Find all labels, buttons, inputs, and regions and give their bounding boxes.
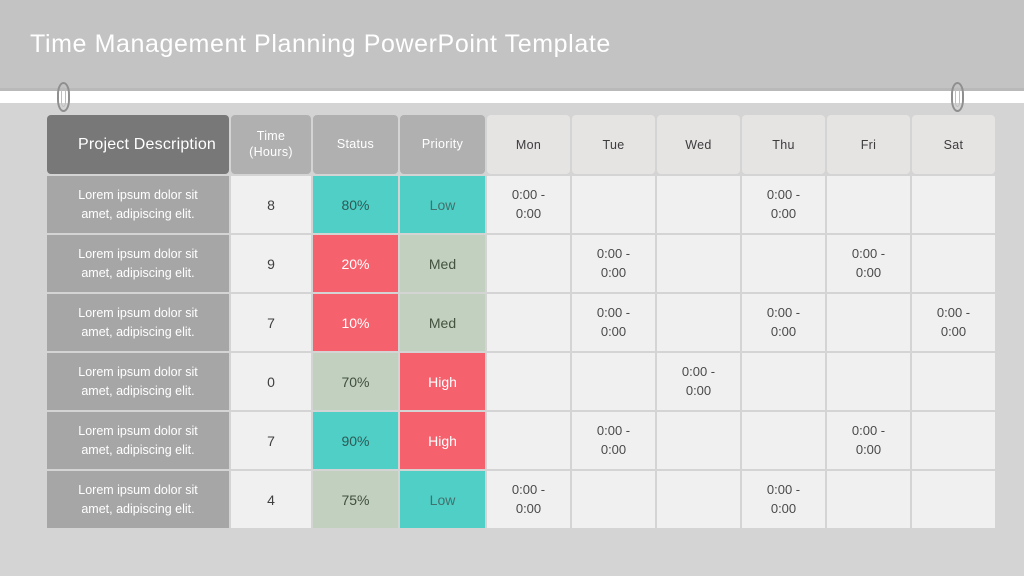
time-range-end: 0:00	[742, 500, 825, 519]
time-range-end: 0:00	[487, 500, 570, 519]
cell-day-tue[interactable]: 0:00 -0:00	[572, 294, 655, 351]
column-header-day-fri: Fri	[827, 115, 910, 174]
cell-status[interactable]: 75%	[313, 471, 398, 528]
cell-day-thu[interactable]	[742, 412, 825, 469]
project-schedule-table: Project Description Time (Hours) Status …	[45, 113, 997, 530]
column-header-time: Time (Hours)	[231, 115, 311, 174]
column-header-day-tue: Tue	[572, 115, 655, 174]
cell-day-thu[interactable]: 0:00 -0:00	[742, 471, 825, 528]
cell-day-thu[interactable]	[742, 235, 825, 292]
page-title: Time Management Planning PowerPoint Temp…	[30, 30, 611, 59]
time-range-start: 0:00 -	[572, 245, 655, 264]
binder-clip-icon-right	[951, 82, 964, 112]
time-range-start: 0:00 -	[912, 304, 995, 323]
time-range-end: 0:00	[487, 205, 570, 224]
table-body: Lorem ipsum dolor sit amet, adipiscing e…	[47, 176, 995, 528]
table-row: Lorem ipsum dolor sit amet, adipiscing e…	[47, 235, 995, 292]
cell-time-hours[interactable]: 9	[231, 235, 311, 292]
cell-day-sat[interactable]	[912, 471, 995, 528]
table-row: Lorem ipsum dolor sit amet, adipiscing e…	[47, 294, 995, 351]
time-range-start: 0:00 -	[742, 304, 825, 323]
cell-day-sat[interactable]: 0:00 -0:00	[912, 294, 995, 351]
cell-day-mon[interactable]: 0:00 -0:00	[487, 176, 570, 233]
cell-day-thu[interactable]	[742, 353, 825, 410]
time-range-start: 0:00 -	[487, 481, 570, 500]
cell-time-hours[interactable]: 0	[231, 353, 311, 410]
time-range-start: 0:00 -	[827, 422, 910, 441]
cell-day-mon[interactable]	[487, 294, 570, 351]
cell-day-mon[interactable]	[487, 235, 570, 292]
time-range-end: 0:00	[572, 323, 655, 342]
time-range-start: 0:00 -	[487, 186, 570, 205]
cell-day-wed[interactable]: 0:00 -0:00	[657, 353, 740, 410]
cell-status[interactable]: 10%	[313, 294, 398, 351]
cell-priority[interactable]: Low	[400, 471, 485, 528]
column-header-description: Project Description	[47, 115, 229, 174]
cell-day-wed[interactable]	[657, 412, 740, 469]
cell-priority[interactable]: Med	[400, 235, 485, 292]
time-range-end: 0:00	[912, 323, 995, 342]
cell-day-fri[interactable]: 0:00 -0:00	[827, 412, 910, 469]
column-header-time-line2: (Hours)	[249, 145, 293, 159]
time-range-start: 0:00 -	[657, 363, 740, 382]
cell-day-thu[interactable]: 0:00 -0:00	[742, 294, 825, 351]
time-range-end: 0:00	[657, 382, 740, 401]
cell-time-hours[interactable]: 8	[231, 176, 311, 233]
table-row: Lorem ipsum dolor sit amet, adipiscing e…	[47, 353, 995, 410]
time-range-end: 0:00	[742, 323, 825, 342]
cell-day-sat[interactable]	[912, 235, 995, 292]
cell-day-fri[interactable]	[827, 294, 910, 351]
time-range-start: 0:00 -	[572, 422, 655, 441]
time-range-start: 0:00 -	[827, 245, 910, 264]
cell-time-hours[interactable]: 7	[231, 412, 311, 469]
cell-project-description[interactable]: Lorem ipsum dolor sit amet, adipiscing e…	[47, 353, 229, 410]
cell-project-description[interactable]: Lorem ipsum dolor sit amet, adipiscing e…	[47, 294, 229, 351]
column-header-time-line1: Time	[257, 129, 286, 143]
header-white-strip	[0, 91, 1024, 103]
column-header-day-thu: Thu	[742, 115, 825, 174]
time-range-start: 0:00 -	[742, 186, 825, 205]
cell-project-description[interactable]: Lorem ipsum dolor sit amet, adipiscing e…	[47, 176, 229, 233]
time-range-start: 0:00 -	[742, 481, 825, 500]
cell-day-tue[interactable]: 0:00 -0:00	[572, 412, 655, 469]
column-header-day-wed: Wed	[657, 115, 740, 174]
cell-day-mon[interactable]	[487, 353, 570, 410]
cell-time-hours[interactable]: 4	[231, 471, 311, 528]
time-range-start: 0:00 -	[572, 304, 655, 323]
cell-priority[interactable]: Low	[400, 176, 485, 233]
cell-status[interactable]: 20%	[313, 235, 398, 292]
cell-day-wed[interactable]	[657, 471, 740, 528]
column-header-priority: Priority	[400, 115, 485, 174]
cell-status[interactable]: 90%	[313, 412, 398, 469]
time-range-end: 0:00	[827, 264, 910, 283]
cell-priority[interactable]: High	[400, 353, 485, 410]
cell-day-tue[interactable]	[572, 176, 655, 233]
time-range-end: 0:00	[572, 264, 655, 283]
cell-day-mon[interactable]	[487, 412, 570, 469]
table-row: Lorem ipsum dolor sit amet, adipiscing e…	[47, 471, 995, 528]
cell-priority[interactable]: High	[400, 412, 485, 469]
cell-day-sat[interactable]	[912, 353, 995, 410]
cell-day-fri[interactable]	[827, 471, 910, 528]
slide-header-band: Time Management Planning PowerPoint Temp…	[0, 0, 1024, 88]
column-header-day-mon: Mon	[487, 115, 570, 174]
cell-status[interactable]: 70%	[313, 353, 398, 410]
table-row: Lorem ipsum dolor sit amet, adipiscing e…	[47, 176, 995, 233]
cell-day-mon[interactable]: 0:00 -0:00	[487, 471, 570, 528]
table-row: Lorem ipsum dolor sit amet, adipiscing e…	[47, 412, 995, 469]
cell-time-hours[interactable]: 7	[231, 294, 311, 351]
cell-day-wed[interactable]	[657, 176, 740, 233]
column-header-status: Status	[313, 115, 398, 174]
cell-day-wed[interactable]	[657, 235, 740, 292]
column-header-day-sat: Sat	[912, 115, 995, 174]
cell-priority[interactable]: Med	[400, 294, 485, 351]
cell-project-description[interactable]: Lorem ipsum dolor sit amet, adipiscing e…	[47, 412, 229, 469]
time-range-end: 0:00	[827, 441, 910, 460]
cell-day-fri[interactable]: 0:00 -0:00	[827, 235, 910, 292]
cell-status[interactable]: 80%	[313, 176, 398, 233]
cell-day-wed[interactable]	[657, 294, 740, 351]
cell-project-description[interactable]: Lorem ipsum dolor sit amet, adipiscing e…	[47, 235, 229, 292]
cell-day-tue[interactable]	[572, 471, 655, 528]
time-range-end: 0:00	[572, 441, 655, 460]
cell-day-tue[interactable]	[572, 353, 655, 410]
cell-day-fri[interactable]	[827, 176, 910, 233]
cell-project-description[interactable]: Lorem ipsum dolor sit amet, adipiscing e…	[47, 471, 229, 528]
cell-day-sat[interactable]	[912, 412, 995, 469]
binder-clip-icon-left	[57, 82, 70, 112]
cell-day-thu[interactable]: 0:00 -0:00	[742, 176, 825, 233]
cell-day-sat[interactable]	[912, 176, 995, 233]
table-header-row: Project Description Time (Hours) Status …	[47, 115, 995, 174]
cell-day-tue[interactable]: 0:00 -0:00	[572, 235, 655, 292]
cell-day-fri[interactable]	[827, 353, 910, 410]
time-range-end: 0:00	[742, 205, 825, 224]
